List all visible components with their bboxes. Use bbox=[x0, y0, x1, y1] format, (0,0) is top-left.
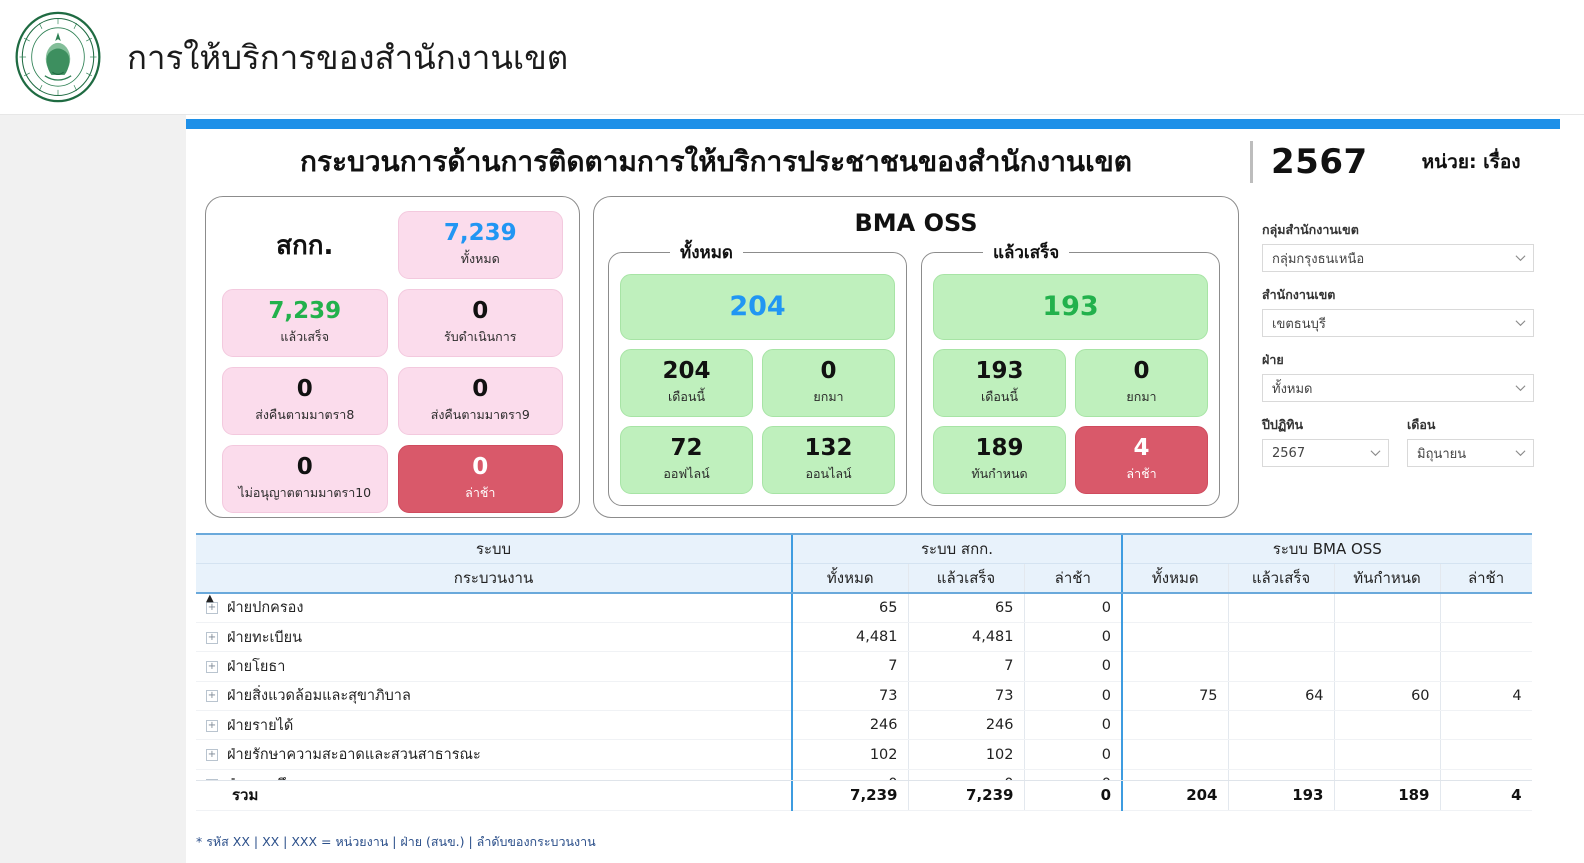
kpi-value: 0 bbox=[820, 359, 836, 383]
filter-district-office: สำนักงานเขต เขตธนบุรี bbox=[1262, 285, 1534, 337]
kpi-card-oss-total-offline[interactable]: 72 ออฟไลน์ bbox=[620, 426, 753, 494]
filter-month: เดือน มิถุนายน bbox=[1407, 415, 1534, 467]
expand-row-icon[interactable]: + bbox=[206, 602, 218, 614]
kpi-value: 0 bbox=[1133, 359, 1149, 383]
row-sk-all: 65 bbox=[792, 593, 908, 622]
row-oss-ontime bbox=[1334, 652, 1440, 681]
table-row[interactable]: +ฝ่ายโยธา770 bbox=[196, 652, 1532, 681]
division-select[interactable]: ทั้งหมด bbox=[1262, 374, 1534, 402]
expand-row-icon[interactable]: + bbox=[206, 690, 218, 702]
kpi-card-oss-total-thismonth[interactable]: 204 เดือนนี้ bbox=[620, 349, 753, 417]
row-oss-all bbox=[1122, 622, 1228, 651]
row-oss-done bbox=[1228, 711, 1334, 740]
select-value: กลุ่มกรุงธนเหนือ bbox=[1272, 248, 1364, 269]
header-oss-ontime[interactable]: ทันกำหนด bbox=[1334, 563, 1440, 593]
row-process-name: +ฝ่ายรักษาความสะอาดและสวนสาธารณะ bbox=[196, 740, 792, 769]
header-group-sakorkor[interactable]: ระบบ สกก. bbox=[792, 535, 1122, 563]
select-value: ทั้งหมด bbox=[1272, 378, 1313, 399]
kpi-card-oss-done[interactable]: 193 bbox=[933, 274, 1208, 340]
row-sk-late: 0 bbox=[1024, 622, 1122, 651]
table-row[interactable]: +ฝ่ายรายได้2462460 bbox=[196, 711, 1532, 740]
row-oss-late bbox=[1440, 593, 1532, 622]
kpi-card-sk-return-article9[interactable]: 0 ส่งคืนตามมาตรา9 bbox=[398, 367, 564, 435]
row-oss-all bbox=[1122, 593, 1228, 622]
kpi-value: 193 bbox=[975, 359, 1023, 383]
page-title: การให้บริการของสำนักงานเขต bbox=[127, 31, 568, 84]
row-oss-late bbox=[1440, 652, 1532, 681]
filter-calendar-year: ปีปฏิทิน 2567 bbox=[1262, 415, 1389, 467]
table-row[interactable]: +ฝ่ายรักษาความสะอาดและสวนสาธารณะ1021020 bbox=[196, 740, 1532, 769]
kpi-card-oss-done-late[interactable]: 4 ล่าช้า bbox=[1075, 426, 1208, 494]
kpi-label: ออฟไลน์ bbox=[663, 464, 709, 484]
expand-row-icon[interactable]: + bbox=[206, 661, 218, 673]
table-body: +ฝ่ายปกครอง65650+ฝ่ายทะเบียน4,4814,4810+… bbox=[196, 593, 1532, 799]
header-sk-late[interactable]: ล่าช้า bbox=[1024, 563, 1122, 593]
table-footnote: * รหัส XX | XX | XXX = หน่วยงาน | ฝ่าย (… bbox=[196, 832, 596, 852]
kpi-label: ออนไลน์ bbox=[805, 464, 851, 484]
chevron-down-icon bbox=[1515, 383, 1526, 394]
app-header: การให้บริการของสำนักงานเขต bbox=[0, 0, 1584, 115]
header-oss-all[interactable]: ทั้งหมด bbox=[1122, 563, 1228, 593]
row-oss-ontime bbox=[1334, 593, 1440, 622]
row-oss-all bbox=[1122, 711, 1228, 740]
kpi-value: 0 bbox=[472, 377, 488, 401]
row-oss-late bbox=[1440, 622, 1532, 651]
kpi-label: เดือนนี้ bbox=[981, 387, 1018, 407]
kpi-card-sk-denied-article10[interactable]: 0 ไม่อนุญาตตามมาตรา10 bbox=[222, 445, 388, 513]
row-oss-all bbox=[1122, 652, 1228, 681]
kpi-panels: สกก. 7,239 ทั้งหมด 7,239 แล้วเสร็จ 0 รับ… bbox=[205, 196, 1239, 518]
kpi-label: ส่งคืนตามมาตรา8 bbox=[255, 405, 354, 425]
kpi-card-sk-inprogress[interactable]: 0 รับดำเนินการ bbox=[398, 289, 564, 357]
filter-panel: กลุ่มสำนักงานเขต กลุ่มกรุงธนเหนือ สำนักง… bbox=[1262, 220, 1534, 467]
bangkok-metropolitan-seal-icon bbox=[9, 8, 107, 106]
kpi-value: 72 bbox=[670, 436, 702, 460]
kpi-label: เดือนนี้ bbox=[668, 387, 705, 407]
left-gutter bbox=[0, 115, 186, 863]
table-row[interactable]: +ฝ่ายปกครอง65650 bbox=[196, 593, 1532, 622]
filter-label: สำนักงานเขต bbox=[1262, 285, 1534, 305]
kpi-label: ล่าช้า bbox=[1126, 464, 1156, 484]
kpi-value: 204 bbox=[662, 359, 710, 383]
row-sk-late: 0 bbox=[1024, 652, 1122, 681]
district-office-select[interactable]: เขตธนบุรี bbox=[1262, 309, 1534, 337]
row-process-name: +ฝ่ายสิ่งแวดล้อมและสุขาภิบาล bbox=[196, 681, 792, 710]
kpi-value: 0 bbox=[472, 455, 488, 479]
select-value: 2567 bbox=[1272, 446, 1305, 461]
month-select[interactable]: มิถุนายน bbox=[1407, 439, 1534, 467]
dashboard-year: 2567 bbox=[1271, 142, 1368, 182]
row-sk-late: 0 bbox=[1024, 681, 1122, 710]
kpi-label: ล่าช้า bbox=[465, 483, 495, 503]
dashboard-page: การให้บริการของสำนักงานเขต กระบวนการด้าน… bbox=[0, 0, 1584, 863]
row-process-name: +ฝ่ายปกครอง bbox=[196, 593, 792, 622]
header-sk-done[interactable]: แล้วเสร็จ bbox=[908, 563, 1024, 593]
kpi-value: 0 bbox=[472, 299, 488, 323]
total-oss-done: 193 bbox=[1228, 781, 1334, 811]
row-sk-all: 73 bbox=[792, 681, 908, 710]
total-oss-late: 4 bbox=[1440, 781, 1532, 811]
kpi-card-oss-total-carriedover[interactable]: 0 ยกมา bbox=[762, 349, 895, 417]
expand-row-icon[interactable]: + bbox=[206, 720, 218, 732]
title-divider bbox=[1250, 141, 1253, 183]
table-row[interactable]: +ฝ่ายทะเบียน4,4814,4810 bbox=[196, 622, 1532, 651]
row-sk-late: 0 bbox=[1024, 711, 1122, 740]
row-process-name: +ฝ่ายรายได้ bbox=[196, 711, 792, 740]
select-value: มิถุนายน bbox=[1417, 443, 1466, 464]
kpi-value: 132 bbox=[804, 436, 852, 460]
unit-label: หน่วย: เรื่อง bbox=[1422, 147, 1521, 177]
row-oss-ontime bbox=[1334, 711, 1440, 740]
kpi-value: 7,239 bbox=[268, 299, 341, 323]
kpi-label: ทันกำหนด bbox=[971, 464, 1027, 484]
chevron-down-icon bbox=[1370, 448, 1381, 459]
header-oss-late[interactable]: ล่าช้า bbox=[1440, 563, 1532, 593]
kpi-label: ยกมา bbox=[813, 387, 843, 407]
dashboard-title: กระบวนการด้านการติดตามการให้บริการประชาช… bbox=[186, 140, 1246, 184]
kpi-label: ส่งคืนตามมาตรา9 bbox=[431, 405, 530, 425]
kpi-label: แล้วเสร็จ bbox=[280, 327, 329, 347]
row-oss-late: 4 bbox=[1440, 681, 1532, 710]
dashboard-title-row: กระบวนการด้านการติดตามการให้บริการประชาช… bbox=[186, 134, 1584, 190]
expand-row-icon[interactable]: + bbox=[206, 632, 218, 644]
row-oss-ontime: 60 bbox=[1334, 681, 1440, 710]
kpi-value: 204 bbox=[729, 293, 785, 321]
filter-label: เดือน bbox=[1407, 415, 1534, 435]
row-sk-all: 246 bbox=[792, 711, 908, 740]
kpi-card-oss-done-ontime[interactable]: 189 ทันกำหนด bbox=[933, 426, 1066, 494]
select-value: เขตธนบุรี bbox=[1272, 313, 1326, 334]
header-sk-all[interactable]: ทั้งหมด bbox=[792, 563, 908, 593]
expand-row-icon[interactable]: + bbox=[206, 749, 218, 761]
filter-division: ฝ่าย ทั้งหมด bbox=[1262, 350, 1534, 402]
row-sk-all: 102 bbox=[792, 740, 908, 769]
dashboard-accent-bar bbox=[186, 119, 1560, 129]
row-oss-done bbox=[1228, 593, 1334, 622]
kpi-card-sk-done[interactable]: 7,239 แล้วเสร็จ bbox=[222, 289, 388, 357]
row-sk-done: 65 bbox=[908, 593, 1024, 622]
bma-oss-panel: BMA OSS ทั้งหมด 204 204 เดือนนี้ 0 bbox=[593, 196, 1239, 518]
row-oss-late bbox=[1440, 711, 1532, 740]
kpi-card-sk-total[interactable]: 7,239 ทั้งหมด bbox=[398, 211, 564, 279]
row-oss-done bbox=[1228, 740, 1334, 769]
kpi-card-sk-return-article8[interactable]: 0 ส่งคืนตามมาตรา8 bbox=[222, 367, 388, 435]
header-group-oss[interactable]: ระบบ BMA OSS bbox=[1122, 535, 1532, 563]
kpi-value: 189 bbox=[975, 436, 1023, 460]
oss-group-legend: ทั้งหมด bbox=[670, 239, 743, 266]
district-group-select[interactable]: กลุ่มกรุงธนเหนือ bbox=[1262, 244, 1534, 272]
row-process-name: +ฝ่ายโยธา bbox=[196, 652, 792, 681]
oss-group-total: ทั้งหมด 204 204 เดือนนี้ 0 ยกมา bbox=[608, 239, 907, 506]
kpi-card-oss-done-carriedover[interactable]: 0 ยกมา bbox=[1075, 349, 1208, 417]
row-sk-done: 7 bbox=[908, 652, 1024, 681]
kpi-value: 0 bbox=[297, 455, 313, 479]
sakorkor-panel: สกก. 7,239 ทั้งหมด 7,239 แล้วเสร็จ 0 รับ… bbox=[205, 196, 580, 518]
process-table-grid: ระบบ ระบบ สกก. ระบบ BMA OSS กระบวนงาน ทั… bbox=[196, 535, 1532, 799]
kpi-value: 0 bbox=[297, 377, 313, 401]
total-oss-ontime: 189 bbox=[1334, 781, 1440, 811]
row-sk-done: 73 bbox=[908, 681, 1024, 710]
total-sk-done: 7,239 bbox=[908, 781, 1024, 811]
row-sk-late: 0 bbox=[1024, 740, 1122, 769]
filter-year-month-row: ปีปฏิทิน 2567 เดือน มิถุนายน bbox=[1262, 415, 1534, 467]
kpi-label: ทั้งหมด bbox=[461, 249, 500, 269]
kpi-label: ยกมา bbox=[1126, 387, 1156, 407]
kpi-card-oss-done-thismonth[interactable]: 193 เดือนนี้ bbox=[933, 349, 1066, 417]
kpi-label: รับดำเนินการ bbox=[444, 327, 516, 347]
filter-label: กลุ่มสำนักงานเขต bbox=[1262, 220, 1534, 240]
total-sk-all: 7,239 bbox=[792, 781, 908, 811]
row-sk-done: 246 bbox=[908, 711, 1024, 740]
process-table: ระบบ ระบบ สกก. ระบบ BMA OSS กระบวนงาน ทั… bbox=[196, 533, 1532, 823]
row-oss-all: 75 bbox=[1122, 681, 1228, 710]
header-process[interactable]: กระบวนงาน bbox=[196, 563, 792, 593]
header-oss-done[interactable]: แล้วเสร็จ bbox=[1228, 563, 1334, 593]
total-sk-late: 0 bbox=[1024, 781, 1122, 811]
filter-label: ปีปฏิทิน bbox=[1262, 415, 1389, 435]
header-system[interactable]: ระบบ bbox=[196, 535, 792, 563]
row-sk-done: 102 bbox=[908, 740, 1024, 769]
total-oss-all: 204 bbox=[1122, 781, 1228, 811]
filter-district-group: กลุ่มสำนักงานเขต กลุ่มกรุงธนเหนือ bbox=[1262, 220, 1534, 272]
row-sk-done: 4,481 bbox=[908, 622, 1024, 651]
row-oss-ontime bbox=[1334, 740, 1440, 769]
row-oss-late bbox=[1440, 740, 1532, 769]
calendar-year-select[interactable]: 2567 bbox=[1262, 439, 1389, 467]
table-group-header-row: ระบบ ระบบ สกก. ระบบ BMA OSS bbox=[196, 535, 1532, 563]
table-scrollbar[interactable] bbox=[1569, 537, 1580, 819]
bma-oss-title: BMA OSS bbox=[608, 209, 1224, 237]
kpi-value: 193 bbox=[1042, 293, 1098, 321]
row-sk-all: 7 bbox=[792, 652, 908, 681]
table-row[interactable]: +ฝ่ายสิ่งแวดล้อมและสุขาภิบาล737307564604 bbox=[196, 681, 1532, 710]
chevron-down-icon bbox=[1515, 318, 1526, 329]
oss-group-legend: แล้วเสร็จ bbox=[983, 239, 1069, 266]
chevron-down-icon bbox=[1515, 448, 1526, 459]
row-oss-done bbox=[1228, 622, 1334, 651]
row-oss-ontime bbox=[1334, 622, 1440, 651]
kpi-card-oss-total-online[interactable]: 132 ออนไลน์ bbox=[762, 426, 895, 494]
row-process-name: +ฝ่ายทะเบียน bbox=[196, 622, 792, 651]
chevron-down-icon bbox=[1515, 253, 1526, 264]
filter-label: ฝ่าย bbox=[1262, 350, 1534, 370]
kpi-value: 4 bbox=[1133, 436, 1149, 460]
sakorkor-heading: สกก. bbox=[222, 211, 388, 279]
kpi-card-sk-late[interactable]: 0 ล่าช้า bbox=[398, 445, 564, 513]
kpi-card-oss-total[interactable]: 204 bbox=[620, 274, 895, 340]
total-label: รวม bbox=[196, 781, 792, 811]
sort-ascending-icon[interactable]: ▲ bbox=[206, 593, 214, 604]
row-sk-late: 0 bbox=[1024, 593, 1122, 622]
table-total-row: รวม 7,239 7,239 0 204 193 189 4 bbox=[196, 780, 1532, 812]
kpi-value: 7,239 bbox=[444, 221, 517, 245]
oss-group-completed: แล้วเสร็จ 193 193 เดือนนี้ 0 ยกมา bbox=[921, 239, 1220, 506]
table-sub-header-row: กระบวนงาน ทั้งหมด แล้วเสร็จ ล่าช้า ทั้งห… bbox=[196, 563, 1532, 593]
row-oss-done bbox=[1228, 652, 1334, 681]
row-oss-done: 64 bbox=[1228, 681, 1334, 710]
kpi-label: ไม่อนุญาตตามมาตรา10 bbox=[238, 483, 371, 503]
row-oss-all bbox=[1122, 740, 1228, 769]
row-sk-all: 4,481 bbox=[792, 622, 908, 651]
